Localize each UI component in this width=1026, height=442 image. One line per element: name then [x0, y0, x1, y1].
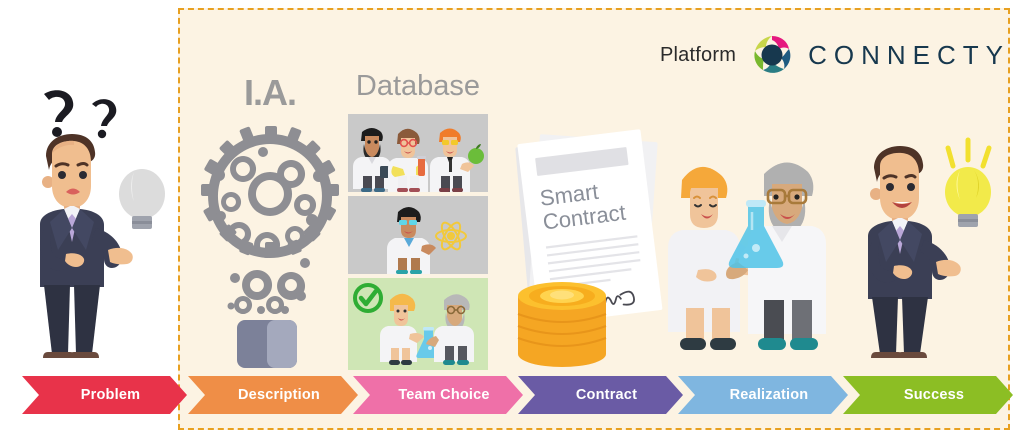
step-success[interactable]: Success — [843, 376, 1013, 414]
step-realization[interactable]: Realization — [678, 376, 848, 414]
realization-illustration — [668, 140, 828, 372]
database-section: Database — [348, 72, 488, 372]
ia-title: I.A. — [195, 72, 345, 114]
database-panel-team-2[interactable] — [348, 196, 488, 274]
database-title: Database — [348, 72, 488, 101]
step-label: Problem — [69, 387, 140, 403]
step-label: Realization — [718, 387, 809, 403]
infographic-canvas: Platform CONNECTY — [0, 0, 1026, 442]
success-illustration — [856, 132, 996, 372]
step-problem[interactable]: Problem — [22, 376, 187, 414]
ia-section: I.A. — [195, 72, 345, 372]
contract-illustration: Smart Contract — [500, 128, 690, 373]
step-label: Description — [226, 387, 320, 403]
platform-label: Platform — [660, 44, 736, 67]
brand-name: CONNECTY — [808, 40, 1010, 71]
problem-illustration — [22, 82, 172, 374]
step-label: Team Choice — [386, 387, 489, 403]
step-label: Success — [892, 387, 964, 403]
connecty-swirl-logo-icon — [750, 33, 794, 77]
database-panel-team-1[interactable] — [348, 114, 488, 192]
database-panel-team-3-selected[interactable] — [348, 278, 488, 370]
gear-lightbulb-icon — [195, 120, 345, 370]
lit-bulb-icon — [945, 140, 991, 227]
step-contract[interactable]: Contract — [518, 376, 683, 414]
process-steps: Problem Description Team Choice Contract… — [0, 376, 1026, 414]
step-label: Contract — [564, 387, 637, 403]
step-team-choice[interactable]: Team Choice — [353, 376, 523, 414]
brand-header: Platform CONNECTY — [660, 33, 1010, 77]
gold-coin-stack-icon — [518, 282, 606, 367]
green-check-badge — [355, 285, 381, 311]
step-description[interactable]: Description — [188, 376, 358, 414]
